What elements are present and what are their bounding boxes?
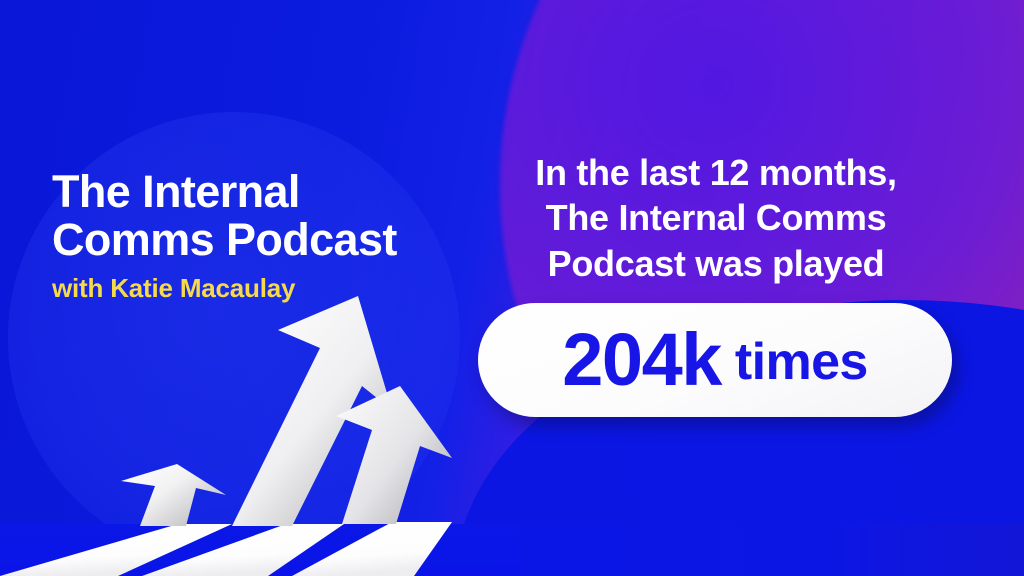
arrow-left <box>120 464 226 526</box>
three-rising-arrows-icon <box>0 270 470 576</box>
podcast-host-line: with Katie Macaulay <box>52 273 452 304</box>
stat-unit-label: times <box>735 336 868 388</box>
background-ground-band-right <box>520 524 1024 576</box>
promo-graphic: The Internal Comms Podcast with Katie Ma… <box>0 0 1024 576</box>
perspective-ribbons <box>0 522 452 576</box>
podcast-title: The Internal Comms Podcast <box>52 168 452 264</box>
stat-pill: 204k times <box>478 303 952 417</box>
arrow-right <box>336 386 452 524</box>
podcast-branding: The Internal Comms Podcast with Katie Ma… <box>52 168 452 304</box>
headline-text: In the last 12 months, The Internal Comm… <box>466 150 966 286</box>
stat-number: 204k <box>562 323 721 397</box>
